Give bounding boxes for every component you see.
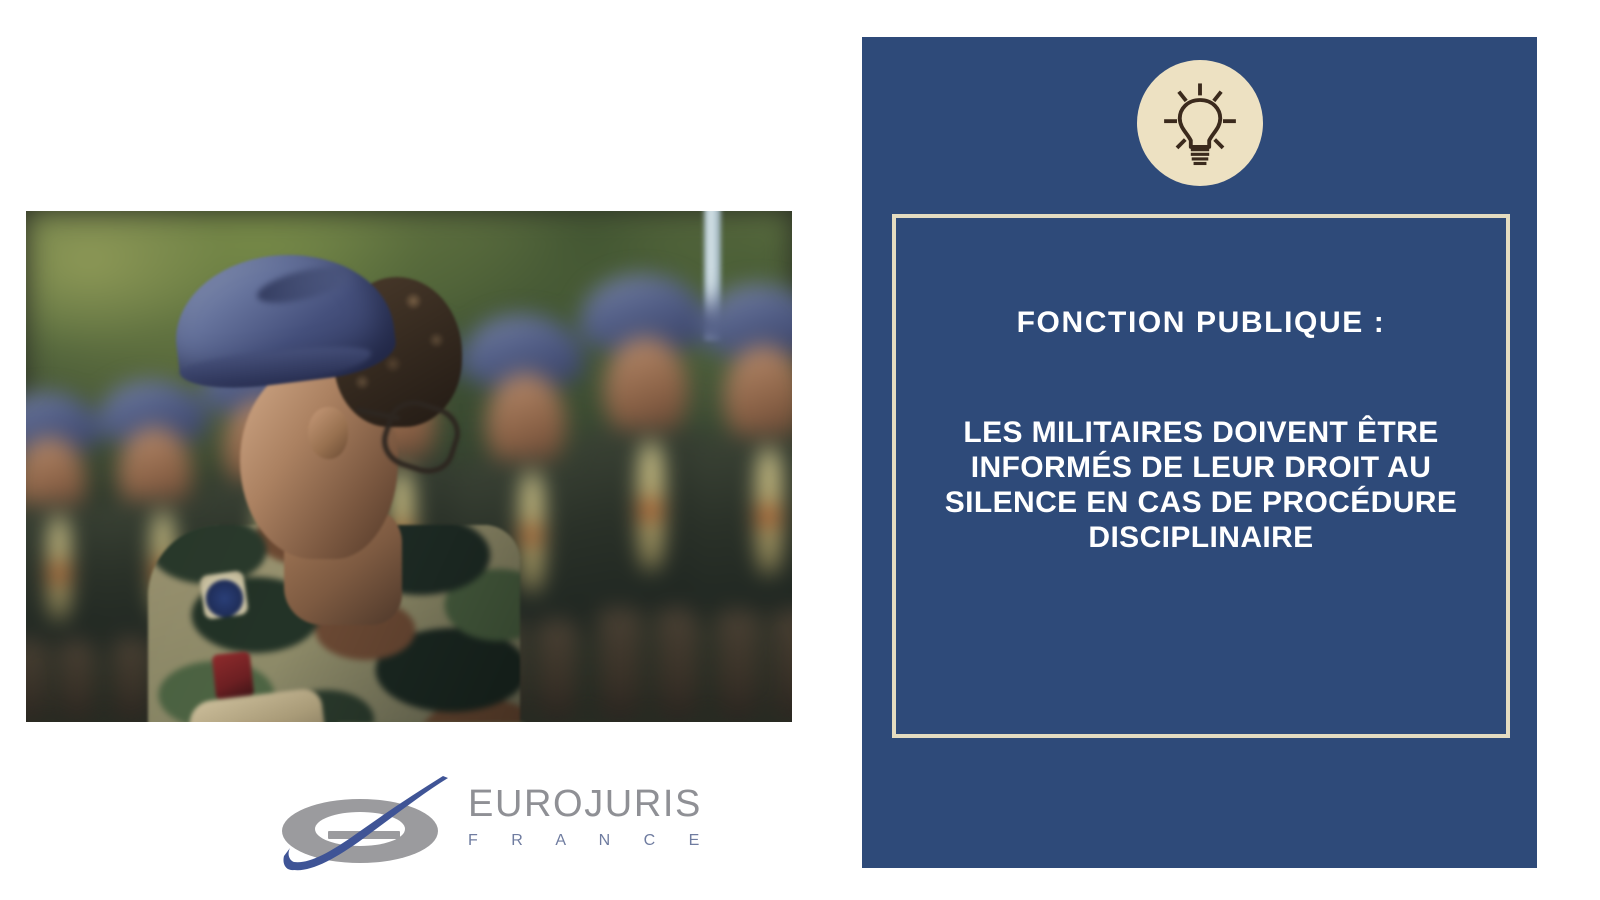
eurojuris-logo[interactable]: EUROJURIS F R A N C E [272,776,672,876]
lightbulb-icon [1154,77,1246,169]
lightbulb-badge [1137,60,1263,186]
foreground-soldier [156,255,516,722]
background-soldier [572,326,710,722]
hero-photo [26,211,792,722]
logo-subword: F R A N C E [468,829,672,853]
eurojuris-wordmark: EUROJURIS F R A N C E [468,782,672,853]
poster-root: EUROJURIS F R A N C E [0,0,1600,900]
left-column: EUROJURIS F R A N C E [0,0,840,900]
logo-word: EUROJURIS [468,782,672,826]
headline-frame: FONCTION PUBLIQUE : LES MILITAIRES DOIVE… [892,214,1510,738]
headline-kicker: FONCTION PUBLIQUE : [924,218,1478,342]
eurojuris-emblem-icon [272,776,457,876]
headline-panel: FONCTION PUBLIQUE : LES MILITAIRES DOIVE… [862,37,1537,868]
ear [308,407,348,459]
headline-main: LES MILITAIRES DOIVENT ÊTRE INFORMÉS DE … [924,342,1478,555]
shoulder-patch-red [212,651,255,701]
shoulder-patch-blue [199,570,249,620]
photo-canvas [26,211,792,722]
background-soldier [698,330,792,722]
